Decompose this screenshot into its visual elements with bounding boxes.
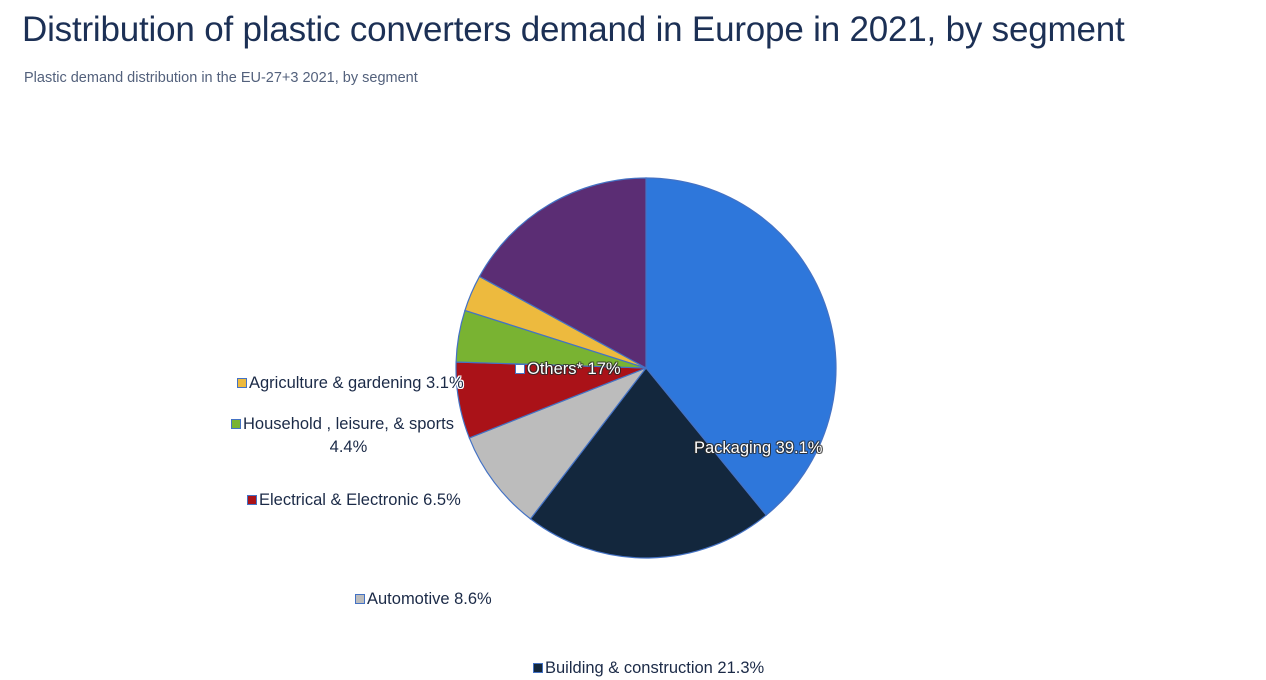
- pie-label-household-leisure-and-sports: Household , leisure, & sports 4.4%: [231, 413, 454, 459]
- legend-marker-household-leisure-and-sports: [231, 419, 241, 429]
- pie-chart-svg: [0, 100, 1266, 588]
- pie-label-packaging: Packaging 39.1%: [694, 437, 822, 460]
- pie-label-text-packaging: Packaging 39.1%: [694, 437, 822, 460]
- pie-slice-group: [456, 178, 836, 558]
- pie-label-text-others: Others* 17%: [527, 358, 621, 381]
- pie-label-electrical-and-electronic: Electrical & Electronic 6.5%: [247, 489, 461, 512]
- pie-label-automotive: Automotive 8.6%: [355, 588, 492, 611]
- pie-label-text-automotive: Automotive 8.6%: [367, 588, 492, 611]
- legend-marker-automotive: [355, 594, 365, 604]
- chart-subtitle: Plastic demand distribution in the EU-27…: [24, 68, 418, 88]
- pie-label-building-and-construction: Building & construction 21.3%: [533, 657, 764, 680]
- legend-marker-agriculture-and-gardening: [237, 378, 247, 388]
- pie-label-text-electrical-and-electronic: Electrical & Electronic 6.5%: [259, 489, 461, 512]
- page-title: Distribution of plastic converters deman…: [22, 8, 1125, 52]
- pie-label-text-agriculture-and-gardening: Agriculture & gardening 3.1%: [249, 372, 464, 395]
- legend-marker-others: [515, 364, 525, 374]
- legend-marker-electrical-and-electronic: [247, 495, 257, 505]
- pie-chart-plot-area: Agriculture & gardening 3.1% Household ,…: [0, 100, 1266, 588]
- pie-label-text-household-leisure-and-sports: Household , leisure, & sports 4.4%: [243, 413, 454, 459]
- legend-marker-building-and-construction: [533, 663, 543, 673]
- pie-label-agriculture-and-gardening: Agriculture & gardening 3.1%: [237, 372, 464, 395]
- pie-label-others: Others* 17%: [515, 358, 621, 381]
- pie-label-text-building-and-construction: Building & construction 21.3%: [545, 657, 764, 680]
